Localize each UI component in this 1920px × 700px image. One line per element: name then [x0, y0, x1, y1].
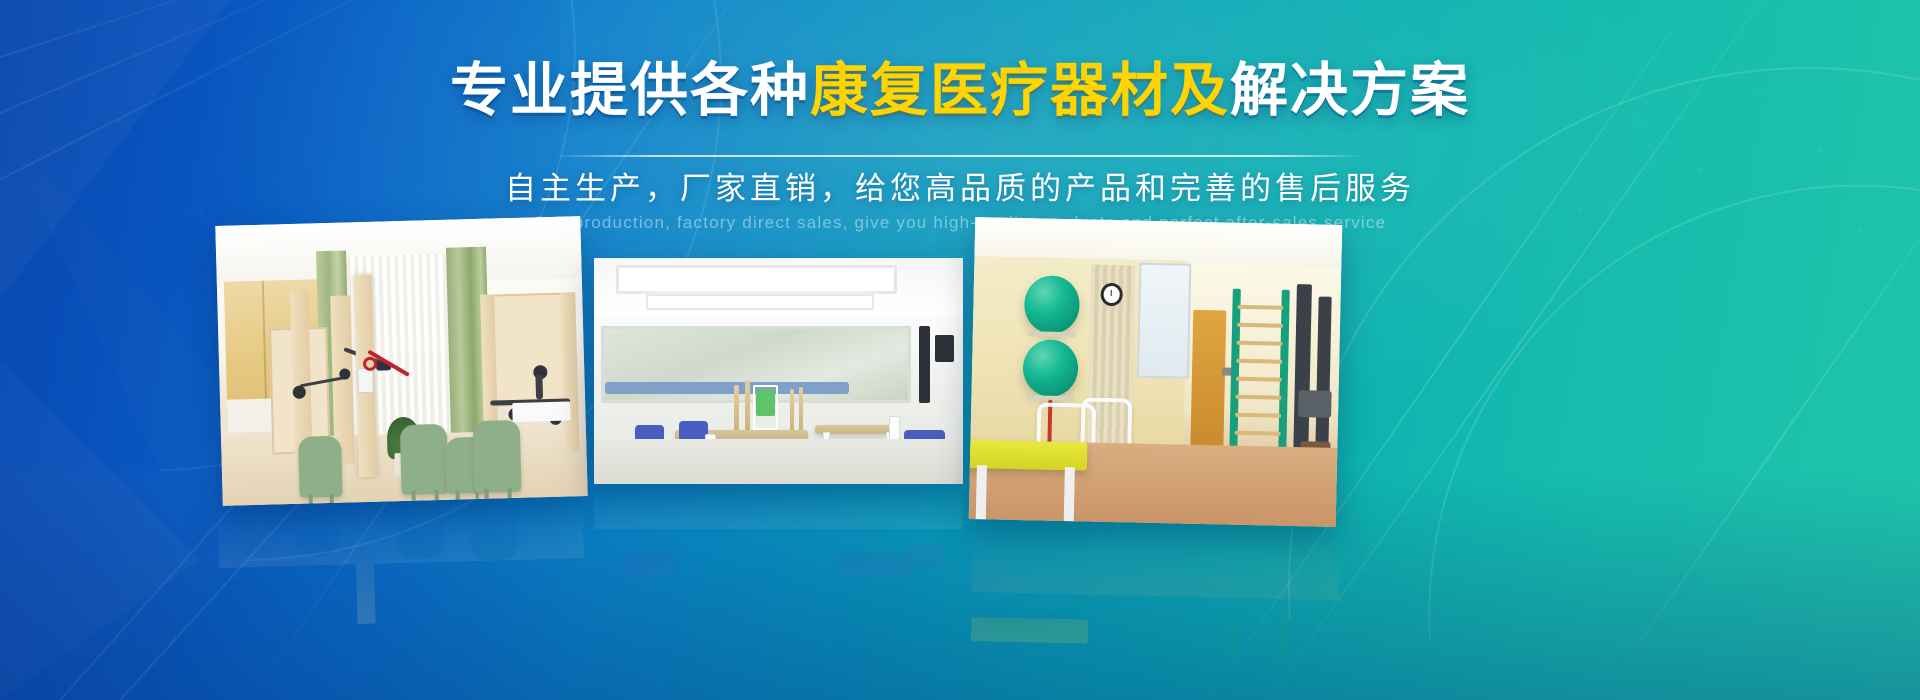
- photo-rehab-training-room: [215, 216, 587, 506]
- scene-rehab-equipment-room: [969, 217, 1343, 527]
- photo-reflection-left: [217, 498, 585, 628]
- scene-rehab-training-room: [215, 216, 587, 506]
- headline-part1: 专业提供各种: [450, 60, 810, 122]
- headline-divider: [560, 155, 1360, 157]
- headline: 专业提供各种康复医疗器材及解决方案: [0, 60, 1920, 122]
- photo-rehab-equipment-room: [969, 217, 1343, 527]
- subtitle-chinese: 自主生产，厂家直销，给您高品质的产品和完善的售后服务: [0, 168, 1920, 210]
- subtitle-english: Self production, factory direct sales, g…: [0, 210, 1920, 236]
- photo-reflection-center: [594, 486, 963, 582]
- photo-physical-therapy-gym: [594, 258, 963, 484]
- photo-reflection-right: [971, 521, 1341, 659]
- scene-physical-therapy-gym: [594, 258, 963, 484]
- headline-part2: 解决方案: [1230, 60, 1470, 122]
- promo-banner: 专业提供各种康复医疗器材及解决方案 自主生产，厂家直销，给您高品质的产品和完善的…: [0, 0, 1920, 700]
- headline-accent: 康复医疗器材及: [810, 60, 1230, 122]
